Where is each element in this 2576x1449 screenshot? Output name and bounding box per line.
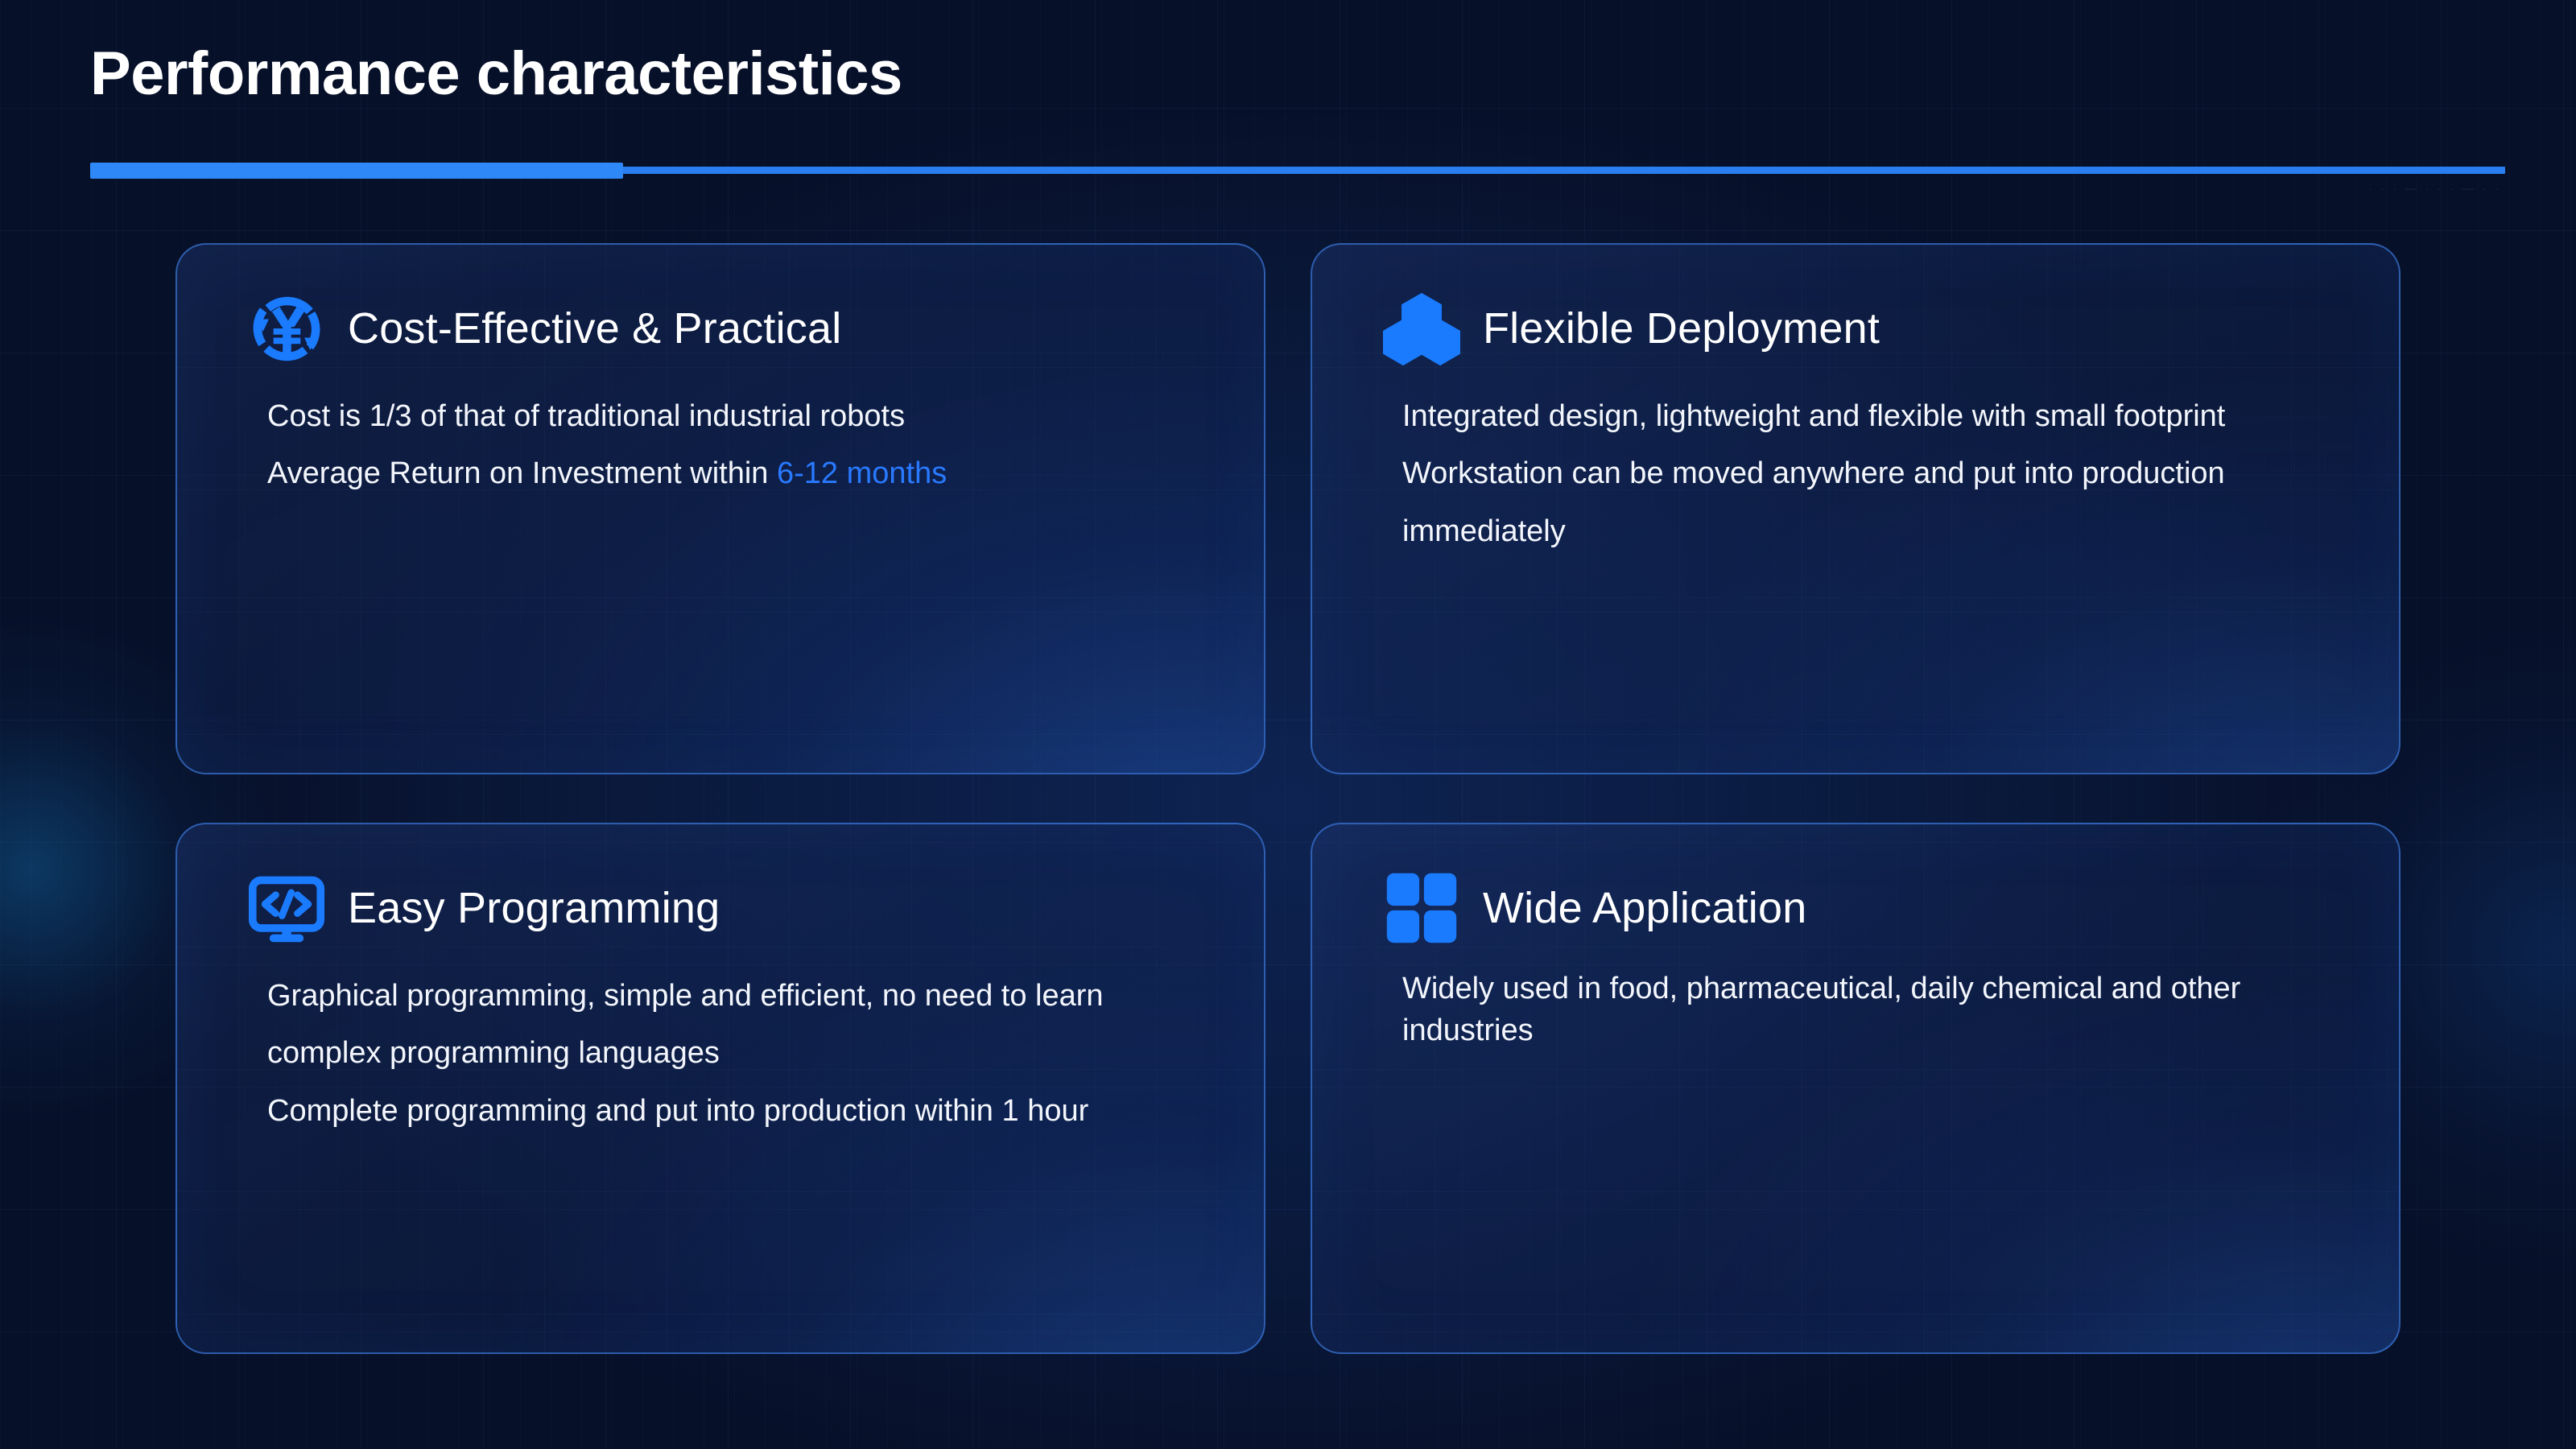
card-body-line: Complete programming and put into produc… xyxy=(267,1083,1216,1140)
card-header: Cost-Effective & Practical xyxy=(177,245,1264,367)
highlight-text: 6-12 months xyxy=(777,456,947,490)
card-body-line: Average Return on Investment within 6-12… xyxy=(267,445,1216,502)
feature-card-grid: Cost-Effective & Practical Cost is 1/3 o… xyxy=(175,243,2401,1354)
card-body-line: Cost is 1/3 of that of traditional indus… xyxy=(267,388,1216,445)
title-underline-thick xyxy=(90,163,623,179)
page-title: Performance characteristics xyxy=(90,40,2505,108)
faint-watermark-text: · · · — · · · — · · xyxy=(2368,182,2500,196)
slide-header: Performance characteristics · · · — · · … xyxy=(90,40,2505,108)
feature-card-flexible-deployment[interactable]: Flexible Deployment Integrated design, l… xyxy=(1311,243,2401,774)
card-body: Graphical programming, simple and effici… xyxy=(177,947,1264,1140)
card-body: Cost is 1/3 of that of traditional indus… xyxy=(177,367,1264,503)
slide-root: Performance characteristics · · · — · · … xyxy=(0,0,2576,1449)
card-body: Widely used in food, pharmaceutical, dai… xyxy=(1312,947,2399,1052)
card-body-line: Workstation can be moved anywhere and pu… xyxy=(1402,445,2351,560)
card-title: Easy Programming xyxy=(348,883,720,933)
card-title: Flexible Deployment xyxy=(1483,303,1880,353)
hexagon-cluster-icon xyxy=(1383,290,1460,367)
card-header: Wide Application xyxy=(1312,824,2399,947)
card-header: Easy Programming xyxy=(177,824,1264,947)
card-header: Flexible Deployment xyxy=(1312,245,2399,367)
code-monitor-icon xyxy=(248,869,325,947)
card-title: Wide Application xyxy=(1483,883,1806,933)
card-body-line: Integrated design, lightweight and flexi… xyxy=(1402,388,2351,445)
grid-four-squares-icon xyxy=(1383,869,1460,947)
feature-card-easy-programming[interactable]: Easy Programming Graphical programming, … xyxy=(175,823,1265,1354)
feature-card-cost-effective[interactable]: Cost-Effective & Practical Cost is 1/3 o… xyxy=(175,243,1265,774)
feature-card-wide-application[interactable]: Wide Application Widely used in food, ph… xyxy=(1311,823,2401,1354)
card-title: Cost-Effective & Practical xyxy=(348,303,841,353)
yen-refresh-icon xyxy=(248,290,325,367)
card-body: Integrated design, lightweight and flexi… xyxy=(1312,367,2399,560)
title-underline xyxy=(90,163,2505,179)
card-body-line: Graphical programming, simple and effici… xyxy=(267,968,1216,1083)
card-body-line: Widely used in food, pharmaceutical, dai… xyxy=(1402,968,2351,1052)
